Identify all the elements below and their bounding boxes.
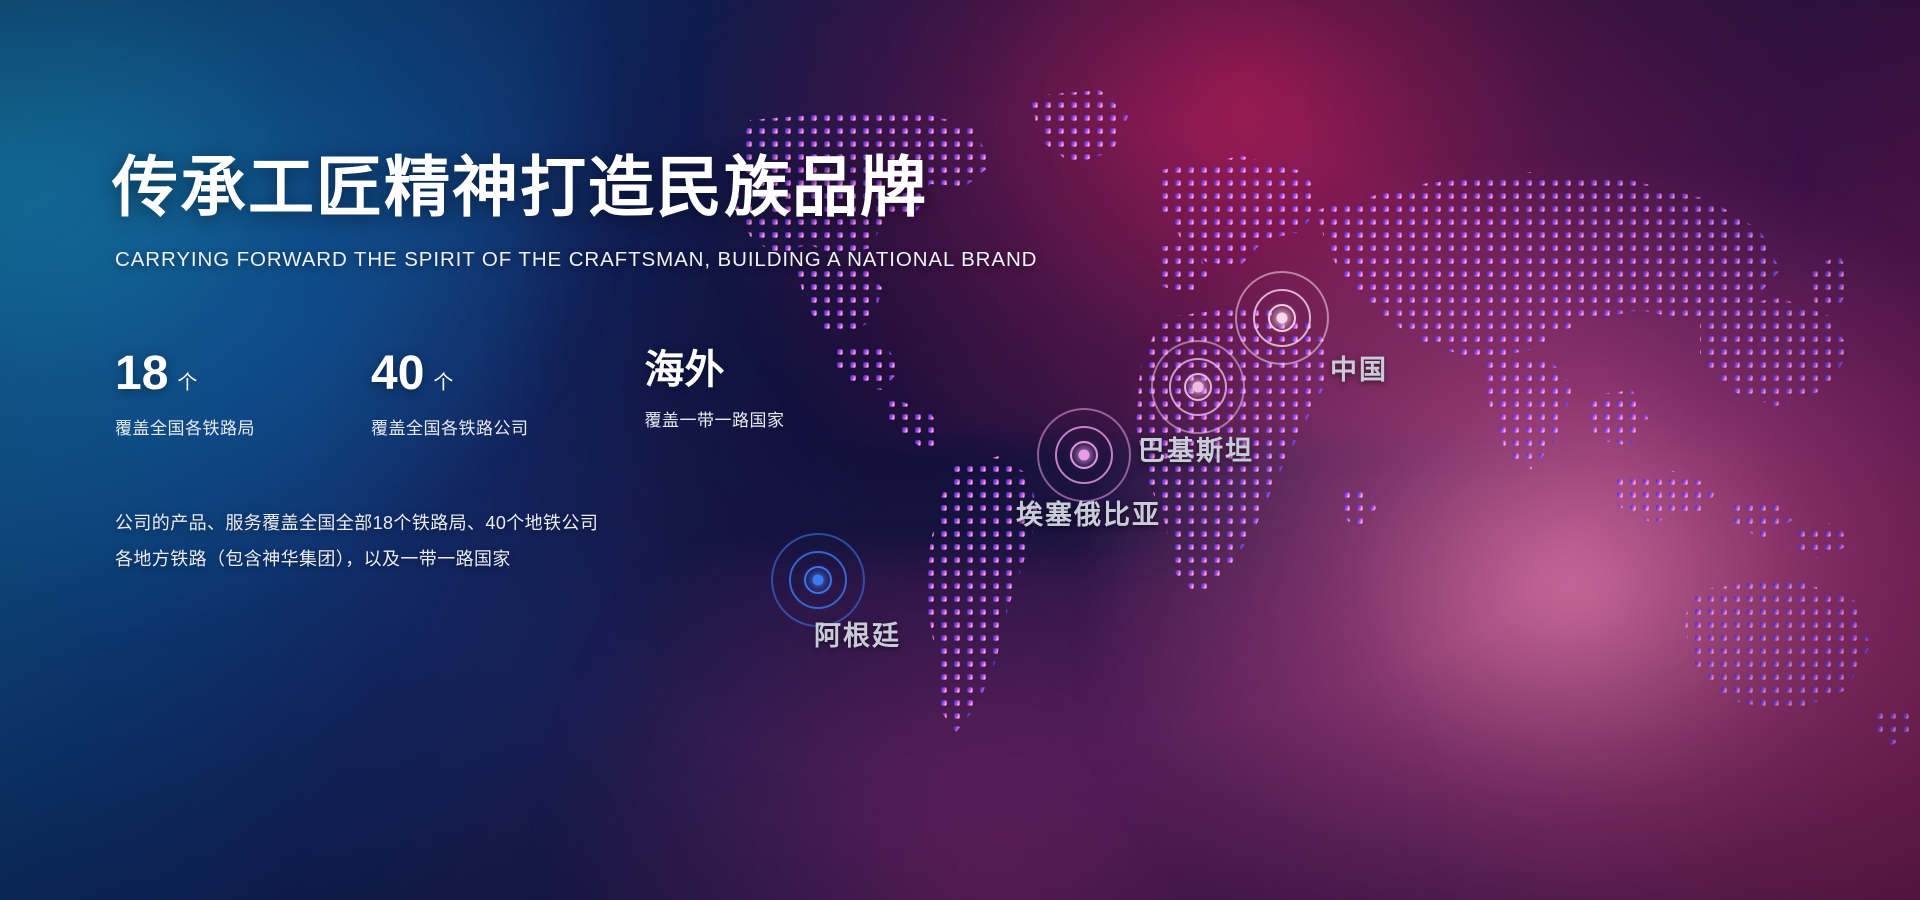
stat-description: 覆盖全国各铁路局 <box>115 414 255 439</box>
stat-value: 18 <box>115 350 168 398</box>
stat-value: 海外 <box>645 350 725 390</box>
stat-unit: 个 <box>177 366 197 395</box>
hero-banner: 中国 巴基斯坦 埃塞俄比亚 阿根廷 传承工匠精神打造民族品牌 CARRYING … <box>0 0 1920 900</box>
banner-content: 传承工匠精神打造民族品牌 CARRYING FORWARD THE SPIRIT… <box>112 150 1012 577</box>
stat-item-overseas: 海外 覆盖一带一路国家 <box>645 350 785 439</box>
stat-item-railway-bureaus: 18 个 覆盖全国各铁路局 <box>115 350 255 439</box>
stats-row: 18 个 覆盖全国各铁路局 40 个 覆盖全国各铁路公司 海外 覆盖一带一路国家 <box>115 350 1012 439</box>
page-title: 传承工匠精神打造民族品牌 <box>112 150 1012 226</box>
stat-value-row: 18 个 <box>115 350 255 398</box>
stat-unit: 个 <box>433 366 453 395</box>
description-line-1: 公司的产品、服务覆盖全国全部18个铁路局、40个地铁公司 <box>115 505 1012 541</box>
stat-value-row: 海外 <box>645 350 785 390</box>
stat-value-row: 40 个 <box>371 350 529 398</box>
page-subtitle: CARRYING FORWARD THE SPIRIT OF THE CRAFT… <box>115 248 1012 272</box>
stat-item-railway-companies: 40 个 覆盖全国各铁路公司 <box>371 350 529 439</box>
description-line-2: 各地方铁路（包含神华集团），以及一带一路国家 <box>115 541 1012 577</box>
stat-description: 覆盖一带一路国家 <box>645 406 785 431</box>
description-paragraph: 公司的产品、服务覆盖全国全部18个铁路局、40个地铁公司 各地方铁路（包含神华集… <box>115 505 1012 577</box>
stat-description: 覆盖全国各铁路公司 <box>371 414 529 439</box>
stat-value: 40 <box>371 350 424 398</box>
